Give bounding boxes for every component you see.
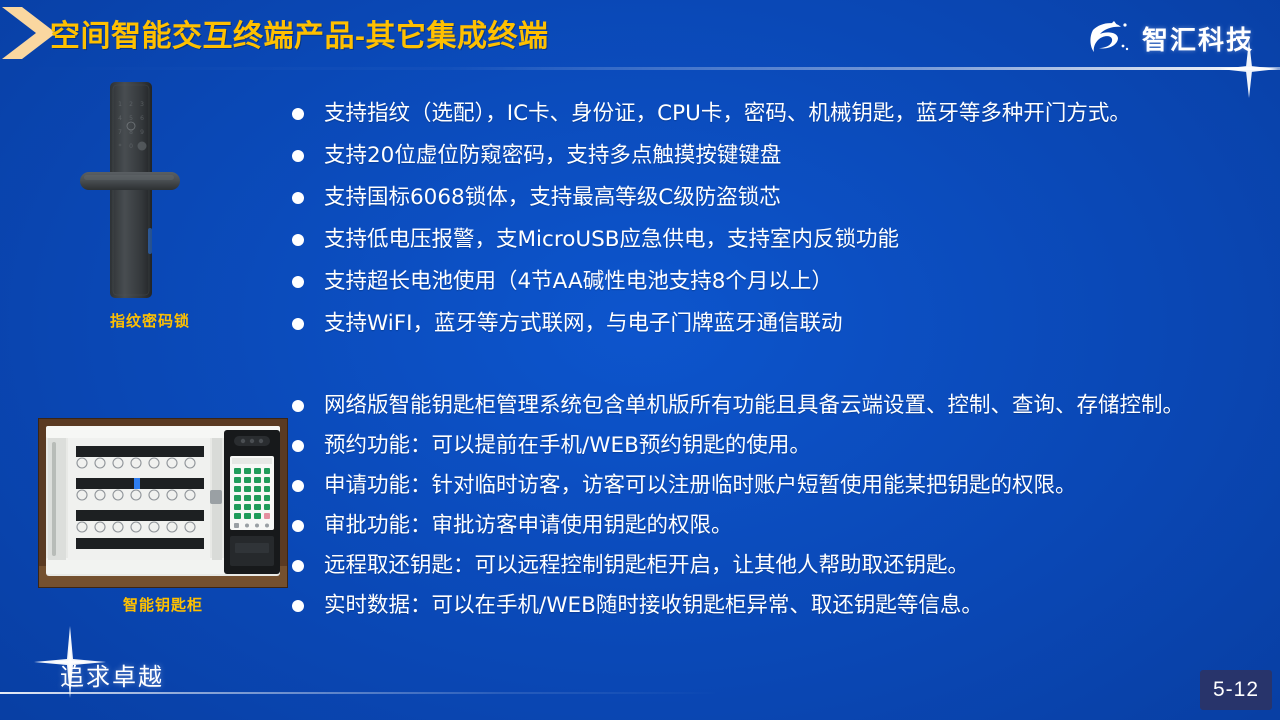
- bullet-dot-icon: [292, 520, 304, 532]
- svg-text:2: 2: [129, 101, 133, 108]
- svg-text:6: 6: [140, 115, 144, 122]
- key-cabinet-features-list: 网络版智能钥匙柜管理系统包含单机版所有功能且具备云端设置、控制、查询、存储控制。…: [292, 392, 1280, 632]
- bullet-dot-icon: [292, 400, 304, 412]
- door-lock-illustration: 123 456 789 *0: [60, 78, 240, 310]
- sparkle-decoration-icon: [1220, 40, 1278, 98]
- smart-key-cabinet-photo: 智能钥匙柜: [38, 418, 288, 618]
- product-caption: 指纹密码锁: [60, 310, 240, 331]
- fingerprint-lock-features-list: 支持指纹（选配），IC卡、身份证，CPU卡，密码、机械钥匙，蓝牙等多种开门方式。…: [292, 100, 1272, 352]
- footer-divider: [0, 692, 720, 694]
- bullet-dot-icon: [292, 276, 304, 288]
- bullet-dot-icon: [292, 192, 304, 204]
- list-item: 实时数据：可以在手机/WEB随时接收钥匙柜异常、取还钥匙等信息。: [292, 592, 1280, 619]
- list-item: 预约功能：可以提前在手机/WEB预约钥匙的使用。: [292, 432, 1280, 459]
- svg-text:5: 5: [129, 115, 133, 122]
- list-item: 支持国标6068锁体，支持最高等级C级防盗锁芯: [292, 184, 1272, 211]
- list-item-text: 支持WiFI，蓝牙等方式联网，与电子门牌蓝牙通信联动: [324, 310, 842, 337]
- list-item: 支持WiFI，蓝牙等方式联网，与电子门牌蓝牙通信联动: [292, 310, 1272, 337]
- bullet-dot-icon: [292, 150, 304, 162]
- list-item: 审批功能：审批访客申请使用钥匙的权限。: [292, 512, 1280, 539]
- list-item-text: 审批功能：审批访客申请使用钥匙的权限。: [324, 512, 733, 539]
- list-item-text: 支持超长电池使用（4节AA碱性电池支持8个月以上）: [324, 268, 833, 295]
- list-item-text: 网络版智能钥匙柜管理系统包含单机版所有功能且具备云端设置、控制、查询、存储控制。: [324, 392, 1184, 419]
- svg-text:1: 1: [118, 101, 122, 108]
- bullet-dot-icon: [292, 560, 304, 572]
- list-item: 支持超长电池使用（4节AA碱性电池支持8个月以上）: [292, 268, 1272, 295]
- svg-text:3: 3: [140, 101, 144, 108]
- page-title: 空间智能交互终端产品-其它集成终端: [50, 11, 549, 55]
- product-caption: 智能钥匙柜: [38, 594, 288, 615]
- list-item-text: 远程取还钥匙：可以远程控制钥匙柜开启，让其他人帮助取还钥匙。: [324, 552, 969, 579]
- list-item: 支持20位虚位防窥密码，支持多点触摸按键键盘: [292, 142, 1272, 169]
- bullet-dot-icon: [292, 440, 304, 452]
- key-cabinet-illustration: [38, 418, 288, 588]
- list-item: 网络版智能钥匙柜管理系统包含单机版所有功能且具备云端设置、控制、查询、存储控制。: [292, 392, 1280, 419]
- list-item-text: 预约功能：可以提前在手机/WEB预约钥匙的使用。: [324, 432, 811, 459]
- svg-text:4: 4: [118, 115, 122, 122]
- slide-header: 空间智能交互终端产品-其它集成终端 智汇科技: [0, 0, 1280, 70]
- list-item-text: 支持20位虚位防窥密码，支持多点触摸按键键盘: [324, 142, 781, 169]
- slide-number-badge: 5-12: [1200, 670, 1272, 710]
- header-divider: [0, 67, 1280, 70]
- svg-text:9: 9: [140, 129, 144, 136]
- list-item-text: 支持指纹（选配），IC卡、身份证，CPU卡，密码、机械钥匙，蓝牙等多种开门方式。: [324, 100, 1131, 127]
- list-item: 支持指纹（选配），IC卡、身份证，CPU卡，密码、机械钥匙，蓝牙等多种开门方式。: [292, 100, 1272, 127]
- fingerprint-door-lock-photo: 123 456 789 *0 指纹密码锁: [60, 78, 240, 323]
- bullet-dot-icon: [292, 108, 304, 120]
- svg-text:7: 7: [118, 129, 122, 136]
- list-item-text: 支持低电压报警，支MicroUSB应急供电，支持室内反锁功能: [324, 226, 899, 253]
- list-item-text: 申请功能：针对临时访客，访客可以注册临时账户短暂使用能某把钥匙的权限。: [324, 472, 1077, 499]
- bullet-dot-icon: [292, 318, 304, 330]
- bullet-dot-icon: [292, 234, 304, 246]
- svg-text:*: *: [119, 143, 122, 150]
- zhihui-brand-mark-icon: [1087, 18, 1133, 58]
- list-item-text: 实时数据：可以在手机/WEB随时接收钥匙柜异常、取还钥匙等信息。: [324, 592, 983, 619]
- bullet-dot-icon: [292, 480, 304, 492]
- list-item-text: 支持国标6068锁体，支持最高等级C级防盗锁芯: [324, 184, 781, 211]
- bullet-dot-icon: [292, 600, 304, 612]
- list-item: 支持低电压报警，支MicroUSB应急供电，支持室内反锁功能: [292, 226, 1272, 253]
- svg-text:0: 0: [129, 143, 133, 150]
- slide-canvas: 空间智能交互终端产品-其它集成终端 智汇科技: [0, 0, 1280, 720]
- list-item: 申请功能：针对临时访客，访客可以注册临时账户短暂使用能某把钥匙的权限。: [292, 472, 1280, 499]
- list-item: 远程取还钥匙：可以远程控制钥匙柜开启，让其他人帮助取还钥匙。: [292, 552, 1280, 579]
- sparkle-decoration-icon: [34, 626, 106, 698]
